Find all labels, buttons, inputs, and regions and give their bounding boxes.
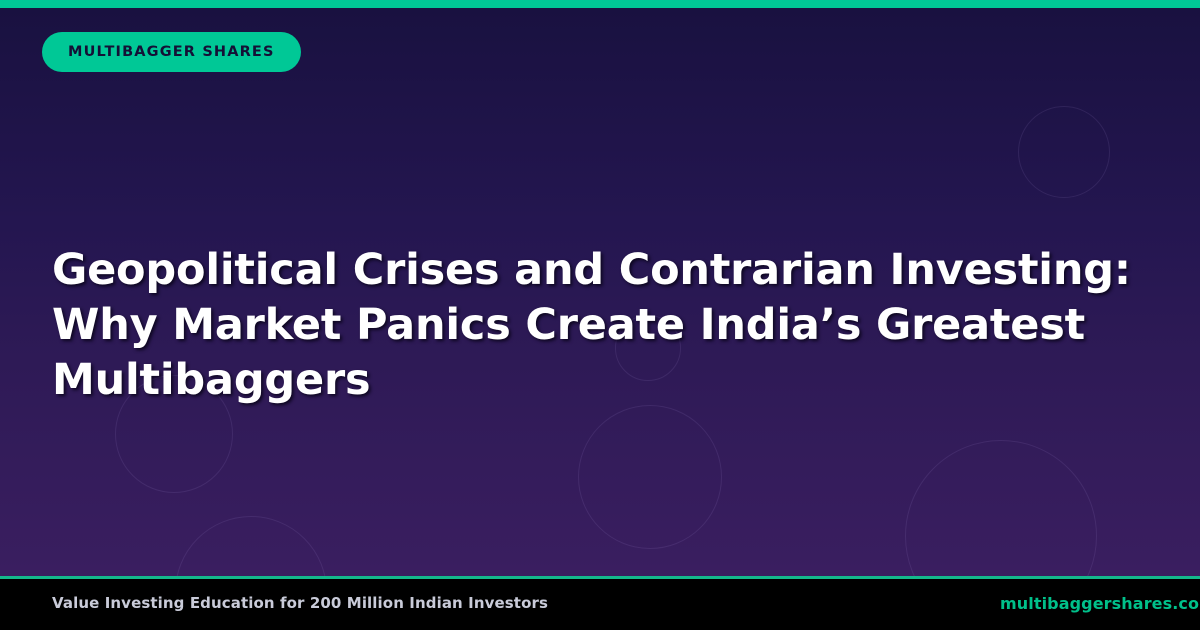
footer-bar: Value Investing Education for 200 Millio… bbox=[0, 576, 1200, 630]
deco-circle-center-large-icon bbox=[578, 405, 722, 549]
page-title-line-2: Why Market Panics Create India’s Greates… bbox=[52, 298, 1142, 353]
page-title: Geopolitical Crises and Contrarian Inves… bbox=[52, 243, 1142, 408]
deco-circle-left-lower-icon bbox=[175, 516, 327, 576]
social-share-card: MULTIBAGGER SHARES Geopolitical Crises a… bbox=[0, 0, 1200, 630]
footer-website-url[interactable]: multibaggershares.com bbox=[1000, 596, 1200, 612]
deco-circle-top-right-icon bbox=[1018, 106, 1110, 198]
footer-tagline: Value Investing Education for 200 Millio… bbox=[52, 596, 548, 611]
page-title-line-3: Multibaggers bbox=[52, 353, 1142, 408]
brand-badge-label: MULTIBAGGER SHARES bbox=[68, 45, 275, 60]
brand-badge: MULTIBAGGER SHARES bbox=[42, 32, 301, 72]
deco-circle-right-lower-icon bbox=[905, 440, 1097, 576]
top-accent-bar bbox=[0, 0, 1200, 8]
page-title-line-1: Geopolitical Crises and Contrarian Inves… bbox=[52, 243, 1142, 298]
